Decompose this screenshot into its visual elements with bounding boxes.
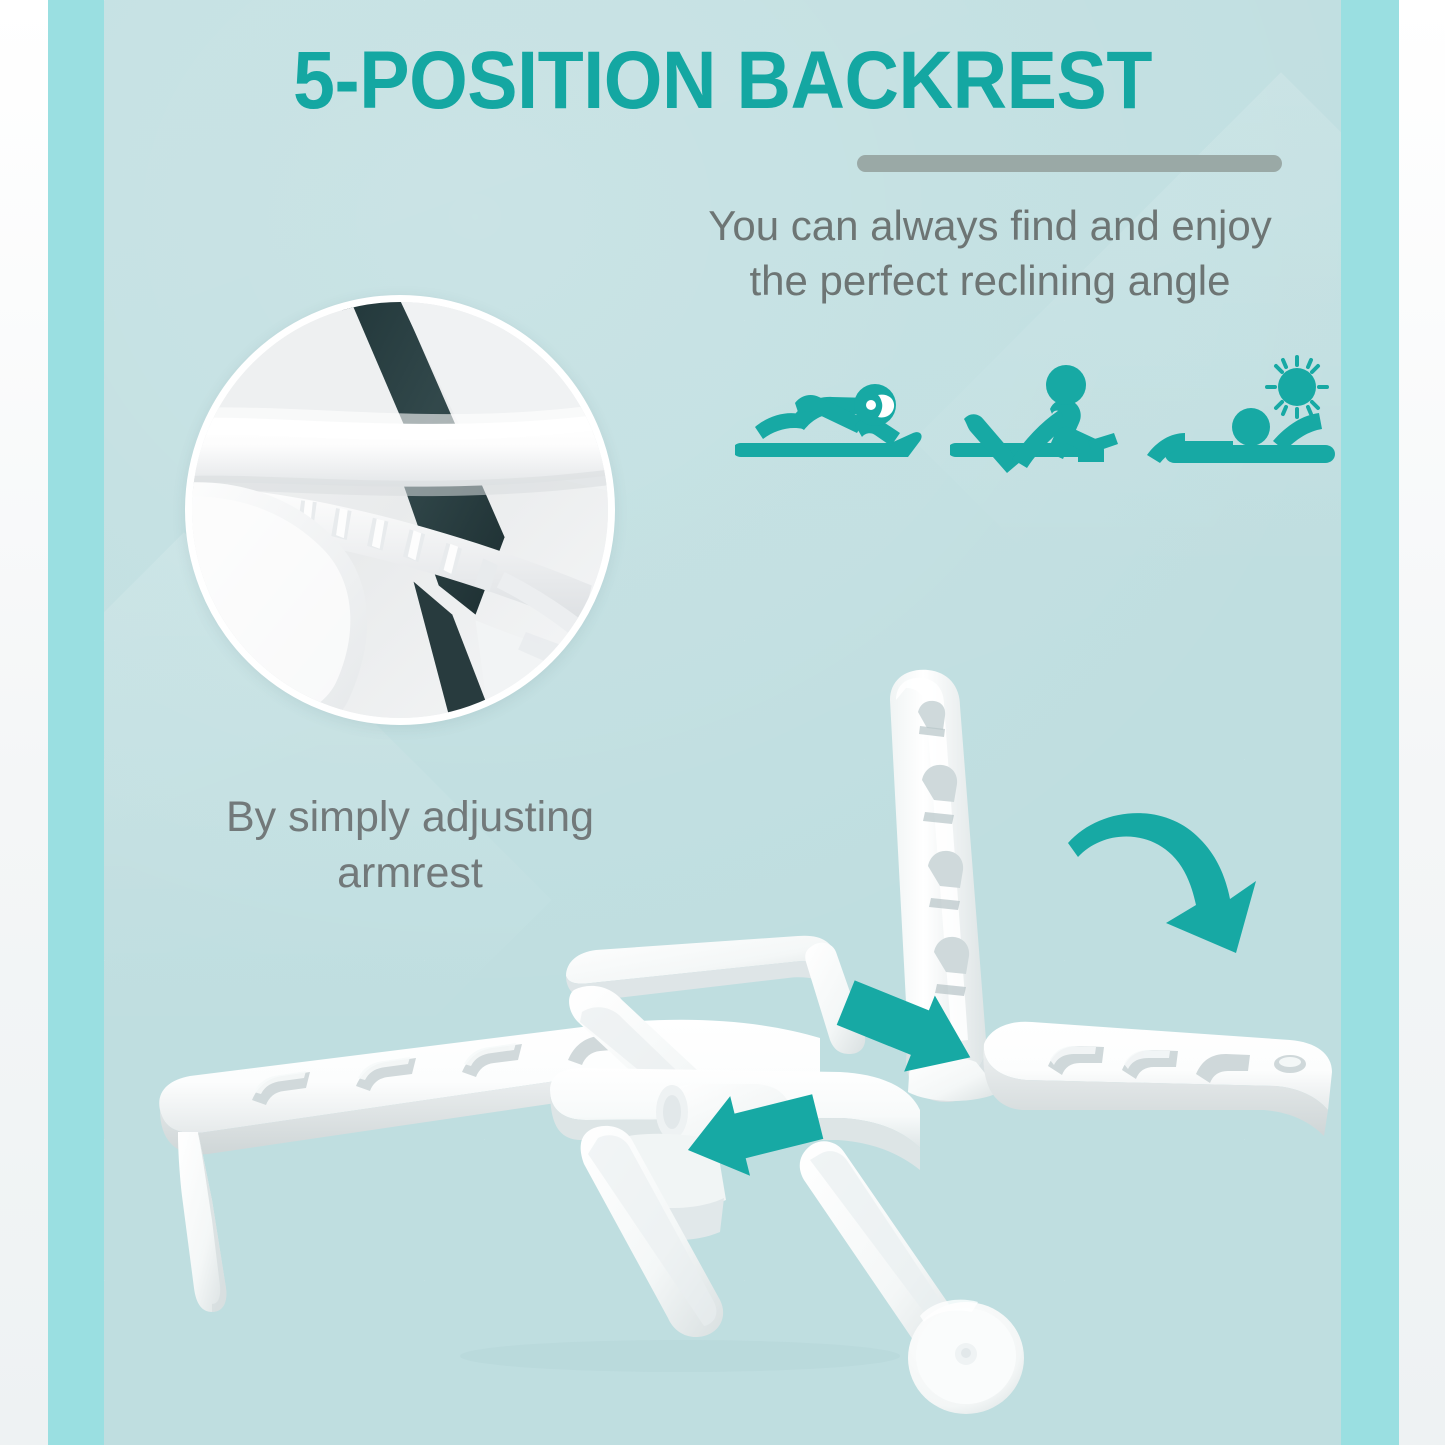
infographic-canvas: 5-POSITION BACKREST You can always find … (0, 0, 1445, 1445)
folding-lounge-chair (120, 640, 1360, 1430)
person-sunbathing-icon (1145, 355, 1345, 485)
person-sitting-reclined-icon (950, 355, 1140, 485)
chair-front-leg (178, 1132, 226, 1312)
left-white-margin (0, 0, 48, 1445)
subtitle-line-1: You can always find and enjoy (640, 198, 1340, 253)
title-divider (857, 155, 1282, 172)
chair-wheel (908, 1300, 1024, 1414)
position-pictogram-row (735, 355, 1335, 485)
left-cyan-bar (48, 0, 104, 1445)
page-title: 5-POSITION BACKREST (153, 38, 1291, 124)
subtitle: You can always find and enjoy the perfec… (640, 198, 1340, 309)
right-white-margin (1399, 0, 1445, 1445)
chair-footrest (159, 1020, 820, 1312)
subtitle-line-2: the perfect reclining angle (640, 253, 1340, 308)
chair-rear-leg (800, 1141, 1024, 1414)
person-lying-flat-reading-icon (735, 355, 925, 485)
chair-rear-seat-panel (983, 1022, 1332, 1136)
backrest-recline-arrow (1060, 795, 1290, 955)
